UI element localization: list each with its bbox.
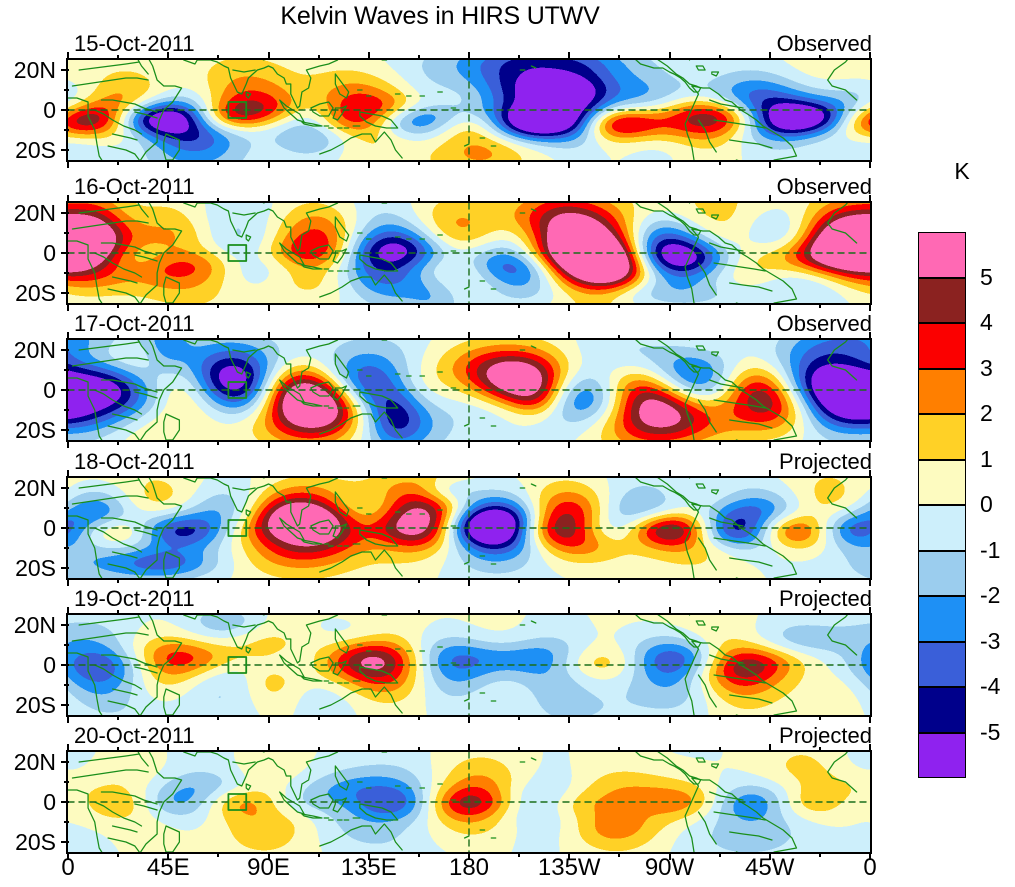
x-tick-mark: [518, 160, 520, 165]
x-tick-mark-top: [117, 747, 119, 752]
x-tick-mark: [217, 303, 219, 308]
x-tick-mark-top: [318, 610, 320, 615]
x-tick-mark: [268, 578, 270, 586]
x-tick-mark-top: [217, 747, 219, 752]
x-tick-mark-top: [719, 747, 721, 752]
x-tick-label-5: 135W: [519, 856, 619, 880]
x-tick-mark: [719, 440, 721, 445]
colorbar-band-5: [918, 460, 966, 506]
x-tick-mark-top: [618, 610, 620, 615]
x-tick-mark: [769, 303, 771, 311]
colorbar-band-3: [918, 369, 966, 415]
map-canvas-5: [66, 613, 872, 717]
x-tick-mark: [418, 578, 420, 583]
panel-date-label-4: 18-Oct-2011: [74, 451, 195, 473]
x-tick-mark: [67, 440, 69, 448]
x-tick-mark-top: [719, 198, 721, 203]
x-tick-mark: [518, 440, 520, 445]
x-tick-label-1: 45E: [118, 856, 218, 880]
x-tick-mark: [769, 715, 771, 723]
x-tick-mark-top: [67, 332, 69, 340]
x-tick-mark: [568, 160, 570, 168]
x-tick-mark: [268, 440, 270, 448]
colorbar-tick-label-1: 4: [980, 311, 993, 334]
y-tick-mark: [61, 841, 69, 843]
x-tick-mark: [869, 160, 871, 168]
x-tick-mark-top: [418, 198, 420, 203]
x-tick-mark-top: [769, 607, 771, 615]
y-tick-mark: [61, 487, 69, 489]
x-tick-mark: [618, 440, 620, 445]
x-tick-mark: [568, 578, 570, 586]
x-tick-mark: [418, 440, 420, 445]
x-tick-mark-top: [418, 610, 420, 615]
colorbar-tick-label-8: -3: [980, 630, 1000, 653]
x-tick-mark: [217, 578, 219, 583]
y-tick-minor: [64, 644, 69, 646]
x-tick-mark-top: [669, 744, 671, 752]
colorbar-tick-label-4: 1: [980, 448, 993, 471]
panel-status-label-5: Projected: [779, 588, 872, 610]
x-tick-mark-top: [117, 473, 119, 478]
colorbar-tick-label-5: 0: [980, 493, 993, 516]
x-tick-mark: [167, 715, 169, 723]
y-tick-mark: [61, 429, 69, 431]
x-tick-mark: [468, 578, 470, 586]
y-tick-label-5-2: 20S: [0, 694, 56, 717]
map-canvas-4: [66, 476, 872, 580]
y-tick-minor: [64, 684, 69, 686]
x-tick-mark-top: [518, 473, 520, 478]
map-panel-6: [68, 752, 870, 852]
x-tick-mark-top: [518, 747, 520, 752]
x-tick-mark-top: [217, 473, 219, 478]
panel-date-label-6: 20-Oct-2011: [74, 725, 195, 747]
y-tick-minor: [64, 409, 69, 411]
x-tick-mark: [769, 440, 771, 448]
x-tick-mark-top: [318, 747, 320, 752]
y-tick-label-3-2: 20S: [0, 419, 56, 442]
y-tick-minor: [64, 821, 69, 823]
x-tick-mark: [468, 160, 470, 168]
colorbar-tick-label-9: -4: [980, 675, 1000, 698]
x-tick-mark: [618, 303, 620, 308]
x-tick-mark-top: [869, 744, 871, 752]
x-tick-mark: [468, 715, 470, 723]
y-tick-label-4-1: 0: [0, 517, 56, 540]
x-tick-mark: [819, 440, 821, 445]
x-tick-mark: [318, 160, 320, 165]
x-tick-mark-top: [468, 607, 470, 615]
x-tick-mark-top: [819, 747, 821, 752]
x-tick-label-4: 180: [419, 856, 519, 880]
x-tick-mark-top: [368, 744, 370, 752]
x-tick-mark: [318, 303, 320, 308]
x-tick-mark-top: [468, 195, 470, 203]
panel-date-label-3: 17-Oct-2011: [74, 313, 195, 335]
panel-status-label-4: Projected: [779, 451, 872, 473]
x-tick-mark: [769, 578, 771, 586]
x-tick-mark-top: [268, 52, 270, 60]
colorbar-band-0: [918, 232, 966, 278]
panel-date-label-1: 15-Oct-2011: [74, 33, 195, 55]
x-tick-mark-top: [669, 607, 671, 615]
y-tick-mark: [61, 149, 69, 151]
y-tick-label-4-0: 20N: [0, 477, 56, 500]
x-tick-mark: [117, 440, 119, 445]
x-tick-mark-top: [819, 610, 821, 615]
x-tick-mark-top: [468, 744, 470, 752]
y-tick-label-6-1: 0: [0, 791, 56, 814]
x-tick-mark: [568, 440, 570, 448]
x-tick-mark: [819, 715, 821, 720]
y-tick-label-2-2: 20S: [0, 282, 56, 305]
x-tick-mark-top: [568, 195, 570, 203]
y-tick-mark: [61, 292, 69, 294]
x-tick-mark: [518, 715, 520, 720]
x-tick-mark-top: [819, 198, 821, 203]
colorbar-band-6: [918, 505, 966, 551]
x-tick-mark: [468, 303, 470, 311]
x-tick-mark-top: [518, 55, 520, 60]
x-tick-mark: [167, 303, 169, 311]
x-tick-mark: [117, 303, 119, 308]
x-tick-mark-top: [368, 470, 370, 478]
x-tick-mark: [268, 715, 270, 723]
x-tick-mark-top: [568, 744, 570, 752]
x-tick-mark: [719, 160, 721, 165]
x-tick-label-7: 45W: [720, 856, 820, 880]
x-tick-mark-top: [819, 335, 821, 340]
x-tick-mark-top: [568, 52, 570, 60]
x-tick-mark: [167, 578, 169, 586]
colorbar-band-10: [918, 687, 966, 733]
x-tick-mark-top: [217, 335, 219, 340]
x-tick-mark: [418, 715, 420, 720]
x-tick-mark: [669, 440, 671, 448]
x-tick-mark-top: [869, 195, 871, 203]
x-tick-label-2: 90E: [219, 856, 319, 880]
x-tick-mark: [769, 160, 771, 168]
x-tick-mark-top: [167, 52, 169, 60]
x-tick-mark: [719, 578, 721, 583]
x-tick-label-6: 90W: [620, 856, 720, 880]
x-tick-mark: [318, 578, 320, 583]
x-tick-mark-top: [769, 470, 771, 478]
x-tick-mark-top: [618, 747, 620, 752]
colorbar-band-2: [918, 323, 966, 369]
y-tick-minor: [64, 232, 69, 234]
y-tick-label-3-0: 20N: [0, 339, 56, 362]
x-tick-mark: [869, 303, 871, 311]
colorbar-tick-label-10: -5: [980, 721, 1000, 744]
y-tick-minor: [64, 369, 69, 371]
x-tick-mark: [217, 440, 219, 445]
x-tick-mark-top: [268, 470, 270, 478]
y-tick-minor: [64, 507, 69, 509]
y-tick-minor: [64, 272, 69, 274]
x-tick-mark: [719, 715, 721, 720]
colorbar-band-8: [918, 596, 966, 642]
y-tick-mark: [61, 664, 69, 666]
x-tick-mark: [217, 160, 219, 165]
x-tick-mark-top: [568, 332, 570, 340]
y-tick-mark: [61, 624, 69, 626]
x-tick-mark-top: [117, 198, 119, 203]
y-tick-label-2-1: 0: [0, 242, 56, 265]
x-tick-mark-top: [318, 198, 320, 203]
x-tick-mark: [67, 303, 69, 311]
x-tick-mark-top: [769, 744, 771, 752]
x-tick-mark-top: [518, 198, 520, 203]
map-canvas-3: [66, 338, 872, 442]
colorbar-tick-label-6: -1: [980, 539, 1000, 562]
x-tick-mark: [468, 440, 470, 448]
x-tick-label-3: 135E: [319, 856, 419, 880]
x-tick-mark-top: [869, 332, 871, 340]
x-tick-mark: [368, 578, 370, 586]
x-tick-mark-top: [67, 195, 69, 203]
x-tick-mark-top: [167, 607, 169, 615]
x-tick-label-0: 0: [18, 856, 118, 880]
x-tick-mark-top: [117, 335, 119, 340]
colorbar-band-7: [918, 551, 966, 597]
x-tick-mark-top: [568, 470, 570, 478]
x-tick-mark: [869, 715, 871, 723]
x-tick-mark: [217, 715, 219, 720]
x-tick-mark-top: [618, 198, 620, 203]
x-tick-mark-top: [268, 607, 270, 615]
x-tick-mark-top: [268, 195, 270, 203]
map-panel-3: [68, 340, 870, 440]
y-tick-label-5-1: 0: [0, 654, 56, 677]
y-tick-label-3-1: 0: [0, 379, 56, 402]
x-tick-mark-top: [719, 55, 721, 60]
x-tick-mark-top: [468, 332, 470, 340]
panel-status-label-3: Observed: [777, 313, 872, 335]
x-tick-mark: [268, 303, 270, 311]
colorbar-tick-label-0: 5: [980, 266, 993, 289]
x-tick-mark: [669, 160, 671, 168]
x-tick-mark-top: [769, 332, 771, 340]
x-tick-mark-top: [67, 744, 69, 752]
x-tick-mark: [117, 715, 119, 720]
x-tick-mark-top: [318, 335, 320, 340]
x-tick-mark: [568, 303, 570, 311]
x-tick-mark: [67, 160, 69, 168]
page-title: Kelvin Waves in HIRS UTWV: [0, 2, 880, 31]
x-tick-mark: [669, 715, 671, 723]
x-tick-mark-top: [518, 335, 520, 340]
x-tick-mark: [268, 160, 270, 168]
x-tick-mark-top: [719, 335, 721, 340]
x-tick-mark-top: [268, 332, 270, 340]
x-tick-label-8: 0: [820, 856, 920, 880]
x-tick-mark-top: [167, 470, 169, 478]
map-panel-5: [68, 615, 870, 715]
x-tick-mark-top: [418, 473, 420, 478]
x-tick-mark: [167, 440, 169, 448]
y-tick-mark: [61, 704, 69, 706]
x-tick-mark-top: [368, 607, 370, 615]
y-tick-minor: [64, 781, 69, 783]
x-tick-mark-top: [418, 747, 420, 752]
x-tick-mark: [819, 578, 821, 583]
x-tick-mark-top: [769, 52, 771, 60]
x-tick-mark: [368, 303, 370, 311]
x-tick-mark: [819, 160, 821, 165]
colorbar-band-11: [918, 733, 966, 779]
x-tick-mark: [117, 160, 119, 165]
x-tick-mark: [368, 715, 370, 723]
x-tick-mark: [67, 715, 69, 723]
x-tick-mark: [618, 160, 620, 165]
y-tick-mark: [61, 801, 69, 803]
map-panel-4: [68, 478, 870, 578]
panel-status-label-1: Observed: [777, 33, 872, 55]
map-panel-1: [68, 60, 870, 160]
colorbar-tick-label-2: 3: [980, 357, 993, 380]
y-tick-minor: [64, 547, 69, 549]
map-canvas-6: [66, 750, 872, 854]
y-tick-mark: [61, 761, 69, 763]
x-tick-mark: [869, 440, 871, 448]
y-tick-label-6-2: 20S: [0, 831, 56, 854]
x-tick-mark-top: [167, 195, 169, 203]
x-tick-mark-top: [67, 52, 69, 60]
x-tick-mark-top: [869, 607, 871, 615]
x-tick-mark-top: [468, 52, 470, 60]
x-tick-mark-top: [117, 610, 119, 615]
y-tick-mark: [61, 212, 69, 214]
panel-date-label-2: 16-Oct-2011: [74, 176, 195, 198]
y-tick-label-1-1: 0: [0, 99, 56, 122]
x-tick-mark-top: [167, 744, 169, 752]
y-tick-label-1-2: 20S: [0, 139, 56, 162]
colorbar-band-9: [918, 642, 966, 688]
x-tick-mark: [318, 715, 320, 720]
x-tick-mark: [418, 303, 420, 308]
x-tick-mark-top: [618, 335, 620, 340]
colorbar-unit-label: K: [938, 160, 986, 183]
x-tick-mark: [568, 715, 570, 723]
colorbar-band-1: [918, 278, 966, 324]
x-tick-mark-top: [669, 195, 671, 203]
x-tick-mark-top: [67, 470, 69, 478]
x-tick-mark-top: [769, 195, 771, 203]
x-tick-mark-top: [217, 610, 219, 615]
x-tick-mark: [67, 578, 69, 586]
colorbar-tick-label-3: 2: [980, 402, 993, 425]
x-tick-mark-top: [618, 473, 620, 478]
y-tick-mark: [61, 69, 69, 71]
x-tick-mark: [368, 160, 370, 168]
x-tick-mark-top: [719, 610, 721, 615]
colorbar-band-4: [918, 414, 966, 460]
x-tick-mark-top: [117, 55, 119, 60]
x-tick-mark-top: [468, 470, 470, 478]
x-tick-mark-top: [819, 473, 821, 478]
x-tick-mark-top: [167, 332, 169, 340]
y-tick-mark: [61, 252, 69, 254]
x-tick-mark-top: [518, 610, 520, 615]
colorbar: 543210-1-2-3-4-5: [918, 232, 966, 778]
x-tick-mark-top: [368, 332, 370, 340]
y-tick-mark: [61, 109, 69, 111]
x-tick-mark: [418, 160, 420, 165]
x-tick-mark-top: [368, 195, 370, 203]
x-tick-mark: [869, 578, 871, 586]
x-tick-mark: [618, 578, 620, 583]
x-tick-mark-top: [719, 473, 721, 478]
x-tick-mark-top: [318, 55, 320, 60]
y-tick-label-6-0: 20N: [0, 751, 56, 774]
x-tick-mark-top: [368, 52, 370, 60]
y-tick-minor: [64, 129, 69, 131]
x-tick-mark-top: [568, 607, 570, 615]
y-tick-label-2-0: 20N: [0, 202, 56, 225]
x-tick-mark: [318, 440, 320, 445]
x-tick-mark-top: [318, 473, 320, 478]
map-panel-2: [68, 203, 870, 303]
panel-date-label-5: 19-Oct-2011: [74, 588, 195, 610]
x-tick-mark: [719, 303, 721, 308]
x-tick-mark-top: [669, 470, 671, 478]
x-tick-mark-top: [217, 198, 219, 203]
panel-status-label-2: Observed: [777, 176, 872, 198]
y-tick-label-5-0: 20N: [0, 614, 56, 637]
x-tick-mark-top: [869, 52, 871, 60]
x-tick-mark-top: [418, 335, 420, 340]
x-tick-mark-top: [618, 55, 620, 60]
x-tick-mark: [518, 578, 520, 583]
x-tick-mark: [669, 303, 671, 311]
x-tick-mark: [819, 303, 821, 308]
y-tick-mark: [61, 349, 69, 351]
y-tick-minor: [64, 89, 69, 91]
y-tick-label-4-2: 20S: [0, 557, 56, 580]
x-tick-mark: [117, 578, 119, 583]
x-tick-mark-top: [869, 470, 871, 478]
x-tick-mark-top: [67, 607, 69, 615]
x-tick-mark-top: [217, 55, 219, 60]
y-tick-mark: [61, 567, 69, 569]
x-tick-mark-top: [669, 332, 671, 340]
map-canvas-1: [66, 58, 872, 162]
x-tick-mark-top: [669, 52, 671, 60]
y-tick-mark: [61, 389, 69, 391]
y-tick-label-1-0: 20N: [0, 59, 56, 82]
x-tick-mark-top: [268, 744, 270, 752]
map-canvas-2: [66, 201, 872, 305]
x-tick-mark: [618, 715, 620, 720]
x-tick-mark: [669, 578, 671, 586]
x-tick-mark: [167, 160, 169, 168]
x-tick-mark: [368, 440, 370, 448]
x-tick-mark-top: [418, 55, 420, 60]
x-tick-mark-top: [819, 55, 821, 60]
colorbar-tick-label-7: -2: [980, 584, 1000, 607]
x-tick-mark: [518, 303, 520, 308]
panel-status-label-6: Projected: [779, 725, 872, 747]
y-tick-mark: [61, 527, 69, 529]
